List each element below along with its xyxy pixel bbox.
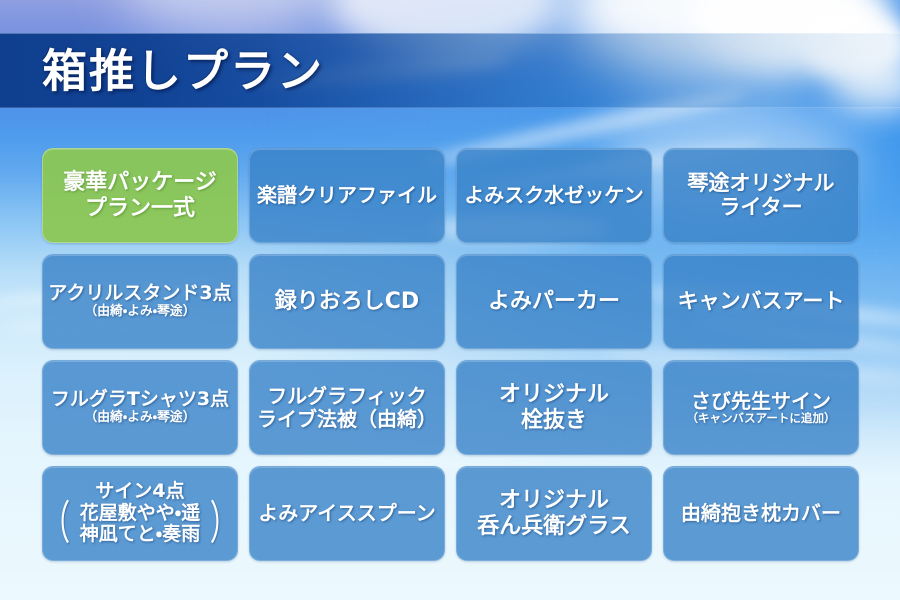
- perk-item-text: 録りおろしCD: [275, 289, 419, 314]
- perk-item-line: 録りおろしCD: [275, 289, 419, 314]
- perk-item-line: よみスク水ゼッケン: [464, 184, 643, 207]
- perk-item-line: （キャンバスアートに追加）: [686, 412, 835, 425]
- perk-item-line: プラン一式: [63, 196, 217, 221]
- perk-item-original-nombei-glass: オリジナル呑ん兵衛グラス: [456, 466, 652, 561]
- perk-item-canvas-art: キャンバスアート: [663, 254, 859, 349]
- perk-item-yomisuku-swim-bib: よみスク水ゼッケン: [456, 148, 652, 243]
- perk-item-kototo-original-lighter: 琴途オリジナルライター: [663, 148, 859, 243]
- perk-item-score-clear-file: 楽譜クリアファイル: [249, 148, 445, 243]
- perk-item-line: フルグラTシャツ3点: [51, 389, 229, 411]
- perk-item-signature-4: サイン4点（花屋敷やや・遥神凪てと・奏雨）: [42, 466, 238, 561]
- perk-item-acrylic-stand-3: アクリルスタンド3点（由綺・よみ・琴途）: [42, 254, 238, 349]
- paren-left: （: [42, 505, 70, 543]
- perk-item-line: オリジナル: [477, 488, 631, 513]
- page-title: 箱推しプラン: [42, 48, 324, 93]
- perk-item-package-plan: 豪華パッケージプラン一式: [42, 148, 238, 243]
- perk-item-line: 神凪てと・奏雨: [80, 524, 200, 546]
- perk-item-yomi-ice-spoon: よみアイススプーン: [249, 466, 445, 561]
- perk-item-line: 琴途オリジナル: [688, 172, 835, 196]
- perk-item-full-graphic-tshirt-3: フルグラTシャツ3点（由綺・よみ・琴途）: [42, 360, 238, 455]
- perk-item-sabi-sensei-signature: さび先生サイン（キャンバスアートに追加）: [663, 360, 859, 455]
- perk-item-line: サイン4点: [42, 481, 238, 503]
- perk-item-text: フルグラTシャツ3点（由綺・よみ・琴途）: [51, 389, 229, 425]
- perk-item-text: 琴途オリジナルライター: [688, 172, 835, 220]
- perk-item-line: よみパーカー: [488, 289, 620, 314]
- perk-item-text: キャンバスアート: [678, 290, 845, 314]
- perk-grid: 豪華パッケージプラン一式楽譜クリアファイルよみスク水ゼッケン琴途オリジナルライタ…: [42, 148, 859, 561]
- perk-item-line: 花屋敷やや・遥: [80, 503, 200, 525]
- perk-item-line: （由綺・よみ・琴途）: [48, 305, 231, 320]
- perk-item-line: 楽譜クリアファイル: [257, 184, 437, 207]
- title-banner: 箱推しプラン: [0, 33, 900, 108]
- perk-item-line: 呑ん兵衛グラス: [477, 514, 631, 539]
- signature-names: 花屋敷やや・遥神凪てと・奏雨: [80, 503, 200, 546]
- perk-item-line: さび先生サイン: [686, 390, 835, 413]
- perk-item-text: 豪華パッケージプラン一式: [63, 170, 217, 220]
- paren-right: ）: [210, 505, 238, 543]
- perk-item-line: よみアイススプーン: [258, 502, 435, 525]
- perk-item-full-graphic-happi: フルグラフィックライブ法被（由綺）: [249, 360, 445, 455]
- signature-names-block: （花屋敷やや・遥神凪てと・奏雨）: [42, 503, 238, 546]
- perk-item-line: アクリルスタンド3点: [48, 283, 231, 305]
- perk-item-yomi-parka: よみパーカー: [456, 254, 652, 349]
- perk-item-line: オリジナル: [499, 382, 609, 407]
- perk-item-text: フルグラフィックライブ法被（由綺）: [257, 385, 437, 431]
- perk-item-text: さび先生サイン（キャンバスアートに追加）: [686, 390, 835, 426]
- perk-item-text: よみアイススプーン: [258, 502, 435, 525]
- perk-item-text: サイン4点（花屋敷やや・遥神凪てと・奏雨）: [42, 481, 238, 546]
- perk-item-line: ライター: [688, 196, 835, 220]
- perk-item-text: 楽譜クリアファイル: [257, 184, 437, 207]
- perk-item-yuki-body-pillow-cover: 由綺抱き枕カバー: [663, 466, 859, 561]
- perk-item-line: 豪華パッケージ: [63, 170, 217, 195]
- perk-item-line: （由綺・よみ・琴途）: [51, 411, 229, 426]
- perk-item-text: アクリルスタンド3点（由綺・よみ・琴途）: [48, 283, 231, 319]
- perk-item-line: 由綺抱き枕カバー: [681, 502, 841, 525]
- perk-item-line: キャンバスアート: [678, 290, 845, 314]
- perk-item-line: フルグラフィック: [257, 385, 437, 408]
- plan-poster: 箱推しプラン 豪華パッケージプラン一式楽譜クリアファイルよみスク水ゼッケン琴途オ…: [0, 0, 900, 600]
- perk-item-newly-recorded-cd: 録りおろしCD: [249, 254, 445, 349]
- perk-item-line: ライブ法被（由綺）: [257, 408, 437, 431]
- perk-item-line: 栓抜き: [499, 408, 609, 433]
- perk-item-text: オリジナル呑ん兵衛グラス: [477, 488, 631, 538]
- perk-item-text: 由綺抱き枕カバー: [681, 502, 841, 525]
- perk-item-original-bottle-opener: オリジナル栓抜き: [456, 360, 652, 455]
- perk-item-text: よみスク水ゼッケン: [464, 184, 643, 207]
- perk-item-text: よみパーカー: [488, 289, 620, 314]
- perk-item-text: オリジナル栓抜き: [499, 382, 609, 432]
